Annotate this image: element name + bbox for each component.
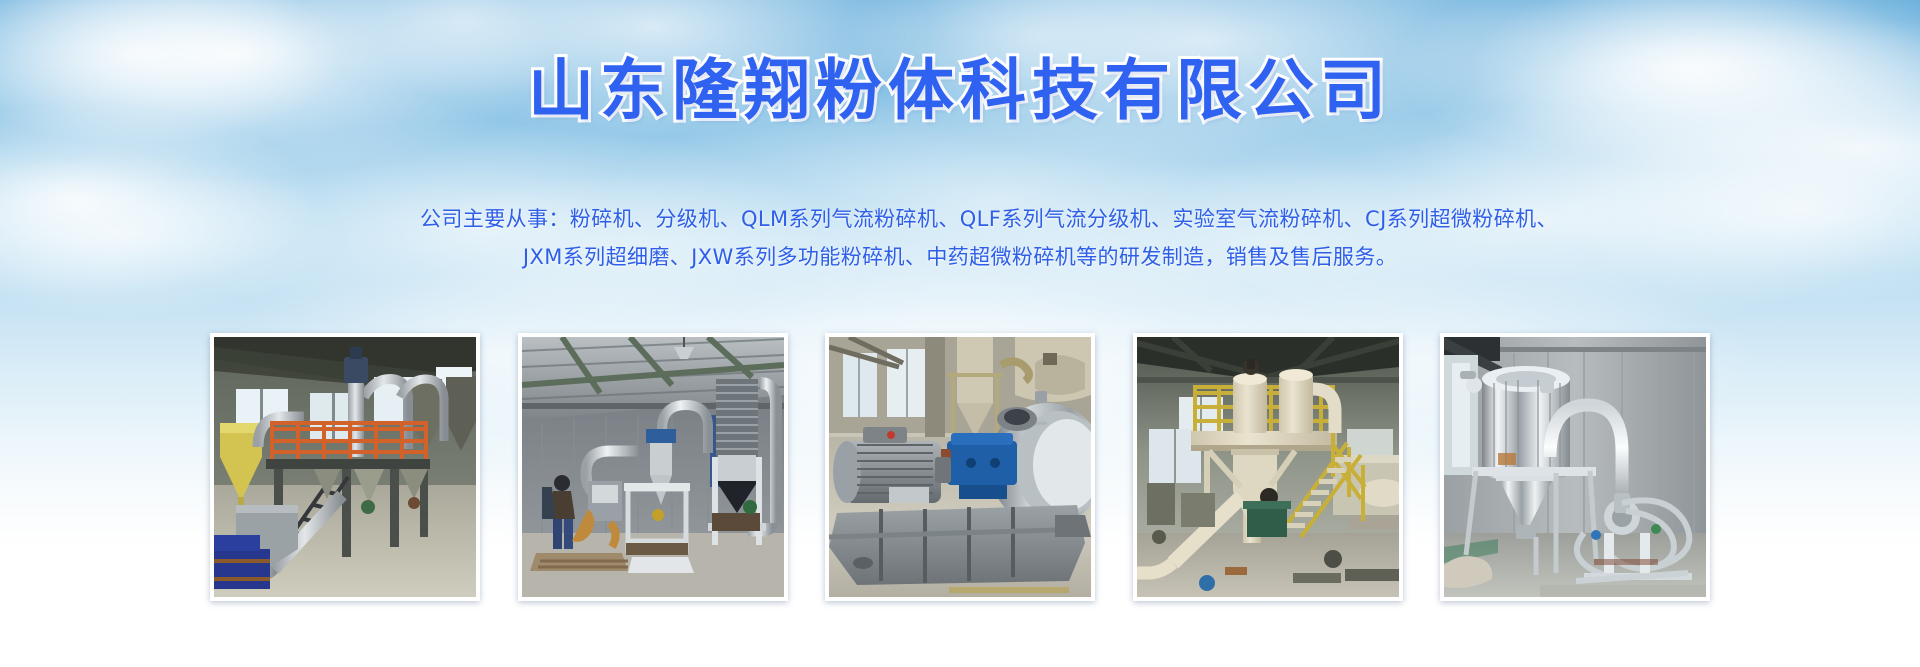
gallery-item-classifier-tower-stairs[interactable] — [1133, 333, 1403, 601]
company-description-line-2: JXM系列超细磨、JXW系列多功能粉碎机、中药超微粉碎机等的研发制造，销售及售后… — [420, 238, 1500, 276]
company-description: 公司主要从事：粉碎机、分级机、QLM系列气流粉碎机、QLF系列气流分级机、实验室… — [420, 200, 1500, 276]
bottom-fade-overlay — [0, 597, 1920, 667]
gallery-item-motor-blower-unit[interactable] — [825, 333, 1095, 601]
stainless-jet-mill-photo — [1444, 337, 1706, 597]
cloud-decoration — [0, 130, 400, 340]
classifier-tower-stairs-photo — [1137, 337, 1399, 597]
air-classifying-mill-platform-photo — [214, 337, 476, 597]
company-description-line-1: 公司主要从事：粉碎机、分级机、QLM系列气流粉碎机、QLF系列气流分级机、实验室… — [420, 200, 1500, 238]
product-photo-gallery — [210, 333, 1710, 601]
workshop-pulverizer-line-photo — [522, 337, 784, 597]
motor-blower-unit-photo — [829, 337, 1091, 597]
page-title: 山东隆翔粉体科技有限公司 — [0, 58, 1920, 124]
company-banner: 山东隆翔粉体科技有限公司 公司主要从事：粉碎机、分级机、QLM系列气流粉碎机、Q… — [0, 0, 1920, 667]
gallery-item-stainless-jet-mill[interactable] — [1440, 333, 1710, 601]
gallery-item-air-classifying-mill-platform[interactable] — [210, 333, 480, 601]
gallery-item-workshop-pulverizer-line[interactable] — [518, 333, 788, 601]
